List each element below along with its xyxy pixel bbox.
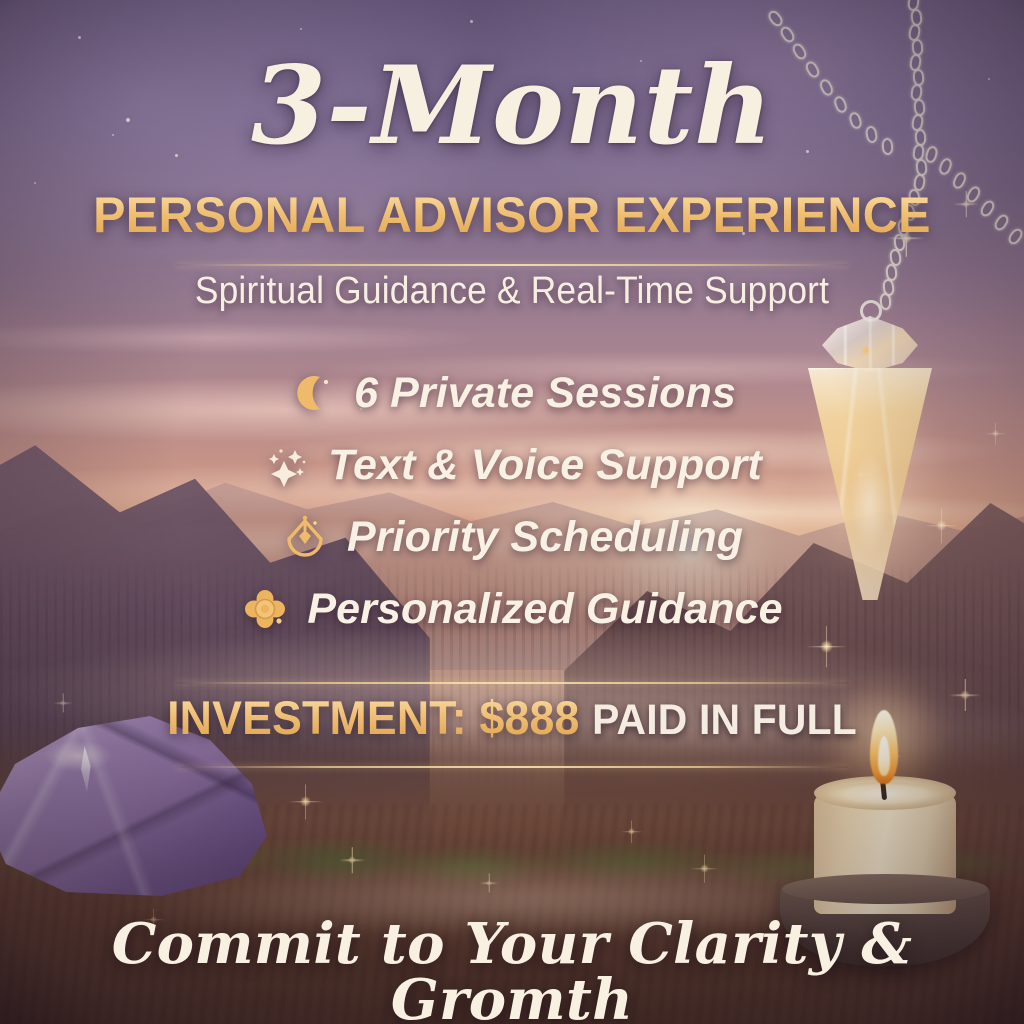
footer-tagline: Commit to Your Clarity & Gromth xyxy=(0,916,1024,1024)
investment-line: INVESTMENT: $888 PAID IN FULL xyxy=(26,694,999,742)
list-item: Personalized Guidance xyxy=(241,578,782,640)
page-title: 3-Month xyxy=(0,52,1024,160)
divider-top xyxy=(176,264,848,266)
list-item-label: Personalized Guidance xyxy=(307,588,782,631)
investment-amount: $888 xyxy=(479,691,579,744)
list-item: Priority Scheduling xyxy=(281,506,743,568)
list-item-label: Priority Scheduling xyxy=(347,516,743,559)
sparkle-stars-icon xyxy=(262,441,310,489)
benefits-list: 6 Private Sessions Text & Voice Support xyxy=(0,362,1024,640)
pendulum-icon xyxy=(281,513,329,561)
list-item: Text & Voice Support xyxy=(262,434,762,496)
divider-investment-bottom xyxy=(176,766,848,768)
promo-flyer: 3-Month PERSONAL ADVISOR EXPERIENCE Spir… xyxy=(0,0,1024,1024)
lotus-flower-icon xyxy=(241,585,289,633)
investment-terms: PAID IN FULL xyxy=(592,696,857,744)
investment-label: INVESTMENT: xyxy=(167,691,467,744)
subtitle-heading: PERSONAL ADVISOR EXPERIENCE xyxy=(15,190,1008,240)
list-item-label: Text & Voice Support xyxy=(328,444,762,487)
crescent-moon-icon xyxy=(288,369,336,417)
list-item: 6 Private Sessions xyxy=(288,362,736,424)
divider-investment-top xyxy=(176,682,848,684)
list-item-label: 6 Private Sessions xyxy=(354,372,736,415)
tagline: Spiritual Guidance & Real-Time Support xyxy=(36,272,988,310)
